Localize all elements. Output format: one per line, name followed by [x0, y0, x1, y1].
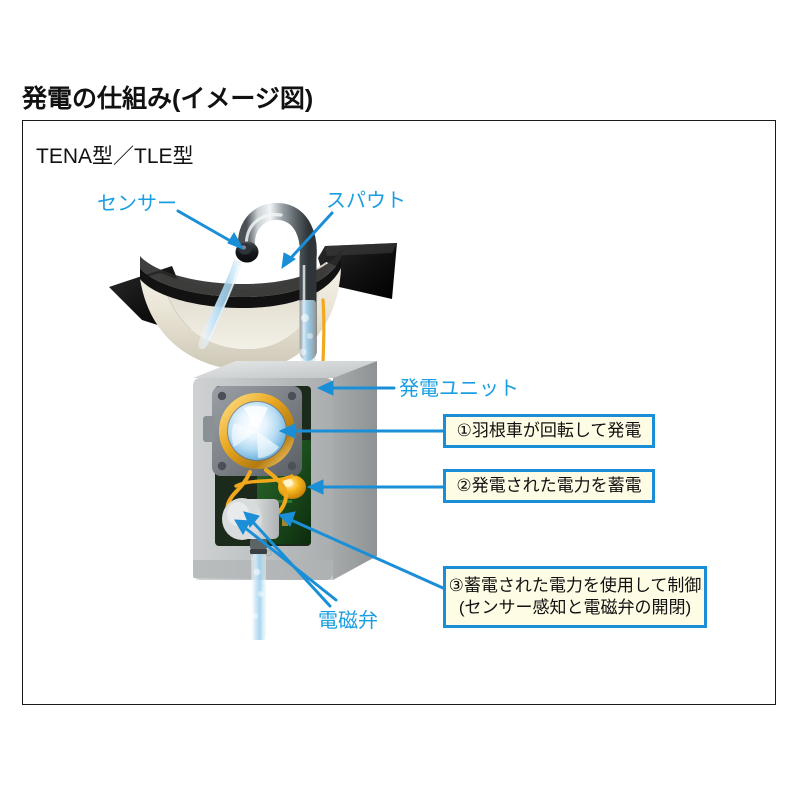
callout-box-3: ③蓄電された電力を使用して制御 (センサー感知と電磁弁の開閉)	[443, 566, 707, 628]
label-sensor: センサー	[97, 194, 177, 214]
callout-1-line-1: ①羽根車が回転して発電	[457, 420, 642, 442]
label-generator-unit: 発電ユニット	[399, 379, 519, 399]
page-title: 発電の仕組み(イメージ図)	[22, 79, 313, 115]
callout-2-line-1: ②発電された電力を蓄電	[456, 475, 641, 497]
callout-box-2: ②発電された電力を蓄電	[443, 469, 655, 503]
callout-3-line-2: (センサー感知と電磁弁の開閉)	[459, 597, 691, 619]
model-subtitle: TENA型／TLE型	[36, 140, 194, 170]
label-solenoid-valve: 電磁弁	[318, 611, 378, 631]
label-spout: スパウト	[326, 191, 406, 211]
callout-box-1: ①羽根車が回転して発電	[443, 414, 655, 448]
callout-3-line-1: ③蓄電された電力を使用して制御	[449, 575, 702, 597]
